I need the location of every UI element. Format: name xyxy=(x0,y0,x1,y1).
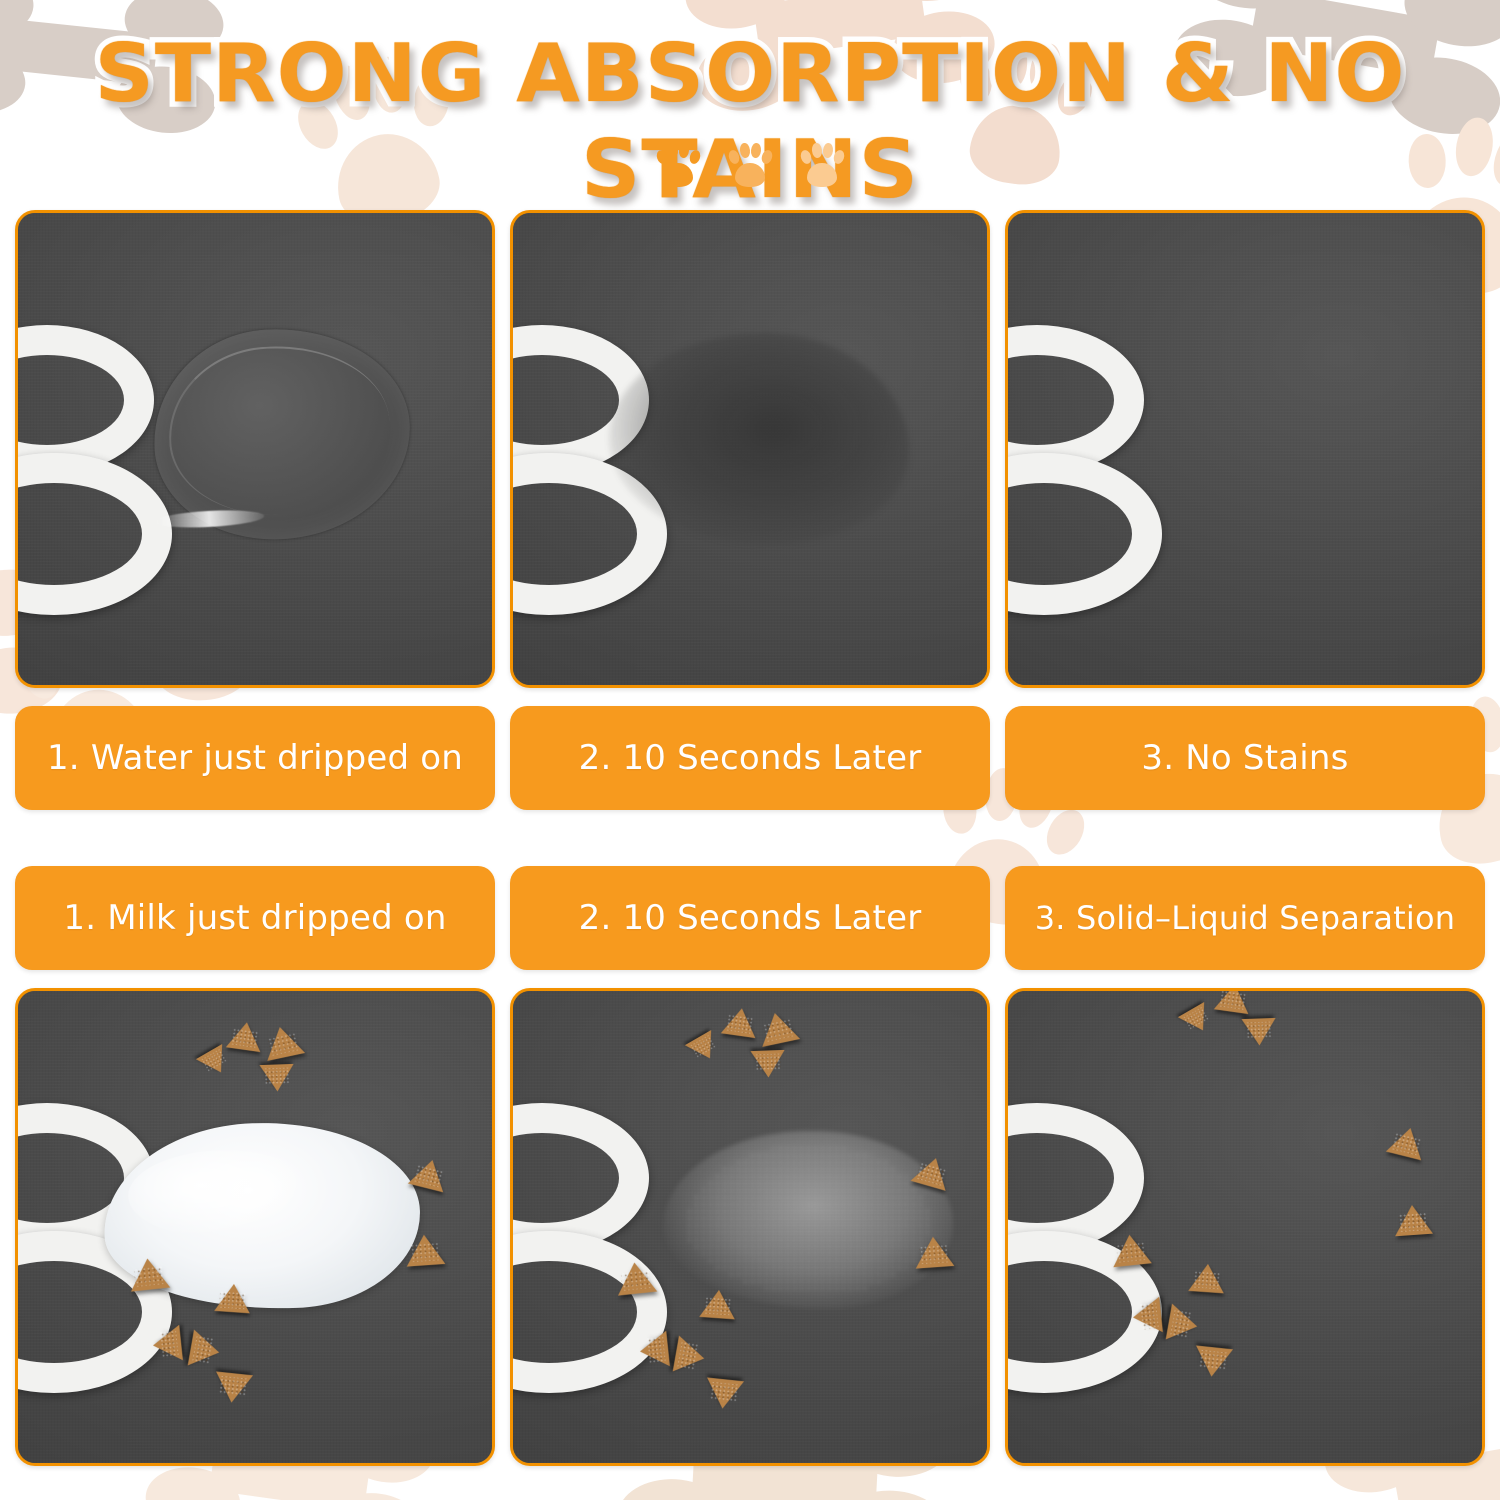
water-step-1-caption: 1. Water just dripped on xyxy=(15,706,495,810)
kibble-piece xyxy=(704,1377,744,1410)
water-step-3-caption: 3. No Stains xyxy=(1005,706,1485,810)
mat-logo-stroke xyxy=(1005,1103,1180,1393)
paw-print-icon xyxy=(799,143,845,189)
water-step-3-cell: 3. No Stains xyxy=(1005,210,1485,810)
kibble-piece xyxy=(1193,1345,1233,1378)
milk-step-2-cell: 2. 10 Seconds Later xyxy=(510,866,990,1466)
kibble-piece xyxy=(259,1064,294,1092)
paw-print-icon xyxy=(727,143,773,189)
water-step-2-cell: 2. 10 Seconds Later xyxy=(510,210,990,810)
kibble-piece xyxy=(721,1006,759,1038)
milk-step-3-photo xyxy=(1005,988,1485,1466)
milk-step-3-caption: 3. Solid–Liquid Separation xyxy=(1005,866,1485,970)
water-step-3-photo xyxy=(1005,210,1485,688)
kibble-piece xyxy=(128,1256,171,1291)
kibble-piece xyxy=(914,1235,955,1268)
kibble-piece xyxy=(1188,1263,1226,1294)
kibble-piece xyxy=(213,1371,253,1404)
caption-label: 3. No Stains xyxy=(1141,738,1348,778)
kibble-piece xyxy=(1131,1297,1163,1335)
kibble-piece xyxy=(750,1050,785,1078)
milk-step-1-cell: 1. Milk just dripped on xyxy=(15,866,495,1466)
paw-print-icon xyxy=(655,143,701,189)
kibble-piece xyxy=(638,1331,670,1369)
milk-test-row: 1. Milk just dripped on xyxy=(0,866,1500,1474)
milk-step-1-photo xyxy=(15,988,495,1466)
caption-label: 3. Solid–Liquid Separation xyxy=(1035,899,1456,937)
kibble-piece xyxy=(151,1325,183,1363)
caption-label: 1. Water just dripped on xyxy=(47,738,463,778)
water-step-2-photo xyxy=(510,210,990,688)
water-step-1-photo xyxy=(15,210,495,688)
infographic-page: STRONG ABSORPTION & NO STAINS 1. Water j… xyxy=(0,0,1500,1500)
paw-divider xyxy=(0,138,1500,194)
milk-residue xyxy=(663,1131,953,1309)
kibble-piece xyxy=(214,1283,252,1314)
caption-label: 1. Milk just dripped on xyxy=(63,898,446,938)
water-step-2-caption: 2. 10 Seconds Later xyxy=(510,706,990,810)
water-step-1-cell: 1. Water just dripped on xyxy=(15,210,495,810)
kibble-piece xyxy=(699,1289,737,1320)
milk-step-1-caption: 1. Milk just dripped on xyxy=(15,866,495,970)
milk-step-2-caption: 2. 10 Seconds Later xyxy=(510,866,990,970)
kibble-piece xyxy=(226,1020,264,1052)
kibble-piece xyxy=(1393,1204,1433,1237)
caption-label: 2. 10 Seconds Later xyxy=(579,898,922,938)
kibble-piece xyxy=(405,1233,446,1266)
kibble-piece xyxy=(615,1260,658,1295)
milk-step-3-cell: 3. Solid–Liquid Separation xyxy=(1005,866,1485,1466)
mat-logo-stroke xyxy=(1005,325,1180,615)
kibble-piece xyxy=(1241,1018,1276,1046)
caption-label: 2. 10 Seconds Later xyxy=(579,738,922,778)
milk-step-2-photo xyxy=(510,988,990,1466)
kibble-piece xyxy=(1110,1233,1152,1267)
water-test-row: 1. Water just dripped on 2. 10 Seconds L… xyxy=(0,210,1500,810)
kibble-piece xyxy=(1214,988,1252,1014)
